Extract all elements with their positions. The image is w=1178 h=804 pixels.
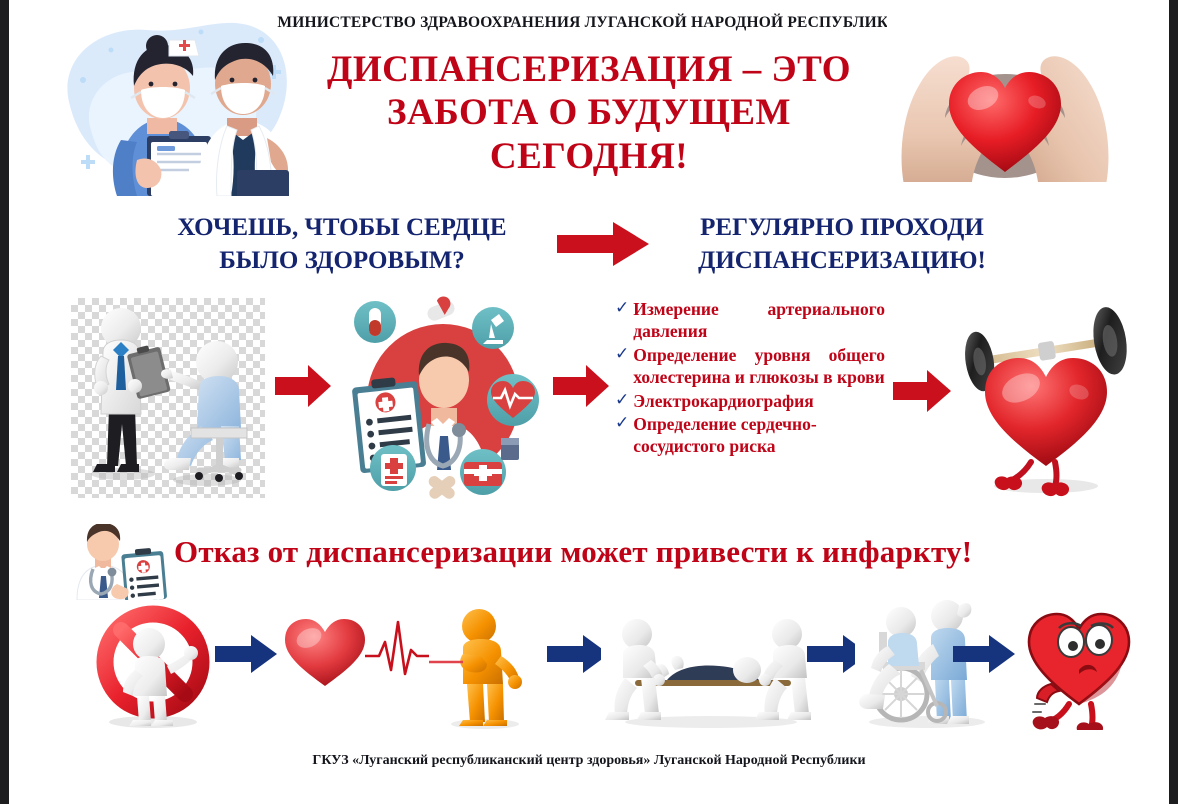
flow-step-doctor-patient (71, 298, 265, 498)
check-icon: ✓ (615, 413, 629, 435)
page-title: ДИСПАНСЕРИЗАЦИЯ – ЭТО ЗАБОТА О БУДУЩЕМ С… (294, 48, 884, 178)
examination-checklist: ✓ Измерение артериального давления ✓ Опр… (615, 298, 885, 459)
consequence-stretcher (601, 604, 821, 730)
checklist-item: ✓ Определение уровня общего холестерина … (615, 344, 885, 389)
header-left-illustration (51, 10, 299, 196)
red-right-arrow-icon-3 (893, 368, 951, 414)
slogan-answer: РЕГУЛЯРНО ПРОХОДИ ДИСПАНСЕРИЗАЦИЮ! (657, 212, 1027, 277)
patient-3d-figure (161, 341, 247, 486)
flow-step-medical-icons (331, 296, 547, 502)
checklist-item: ✓ Электрокардиография (615, 390, 885, 412)
icon-vaccine-vial (501, 438, 519, 460)
icon-microscope (472, 307, 514, 349)
icon-first-aid-kit (460, 449, 506, 495)
navy-right-arrow-icon-4 (953, 634, 1015, 674)
flow-step-strong-heart (951, 300, 1141, 498)
checklist-item: ✓ Определение сердечно-сосудистого риска (615, 413, 885, 458)
doctor-with-clipboard-icon (67, 524, 179, 600)
consequence-refusal (79, 600, 229, 730)
icon-heart-ecg (487, 374, 539, 426)
footer-organization: ГКУЗ «Луганский республиканский центр зд… (9, 753, 1169, 769)
navy-right-arrow-icon-1 (215, 634, 277, 674)
check-icon: ✓ (615, 344, 629, 366)
poster-page: МИНИСТЕРСТВО ЗДРАВООХРАНЕНИЯ ЛУГАНСКОЙ Н… (0, 0, 1178, 804)
checklist-item-label: Электрокардиография (633, 390, 885, 412)
warning-banner-text: Отказ от диспансеризации может привести … (174, 534, 1114, 570)
slogan-answer-line-2: ДИСПАНСЕРИЗАЦИЮ! (657, 245, 1027, 278)
checklist-item-label: Измерение артериального давления (633, 298, 885, 343)
slogan-question-line-1: ХОЧЕШЬ, ЧТОБЫ СЕРДЦЕ (137, 212, 547, 245)
title-line-2: ЗАБОТА О БУДУЩЕМ (294, 91, 884, 134)
header-right-photo (887, 14, 1123, 194)
slogan-question: ХОЧЕШЬ, ЧТОБЫ СЕРДЦЕ БЫЛО ЗДОРОВЫМ? (137, 212, 547, 277)
title-line-3: СЕГОДНЯ! (294, 135, 884, 178)
icon-clipboard-cross (370, 445, 416, 491)
slogan-question-line-2: БЫЛО ЗДОРОВЫМ? (137, 245, 547, 278)
red-right-arrow-icon-2 (553, 363, 609, 409)
slogan-answer-line-1: РЕГУЛЯРНО ПРОХОДИ (657, 212, 1027, 245)
consequence-heart-ecg (281, 612, 431, 702)
check-icon: ✓ (615, 390, 629, 412)
red-right-arrow-icon-1 (275, 363, 331, 409)
title-line-1: ДИСПАНСЕРИЗАЦИЯ – ЭТО (294, 48, 884, 91)
icon-test-tube (354, 301, 396, 343)
consequence-sad-heart (1019, 600, 1139, 730)
doctor-3d-figure (91, 308, 171, 480)
navy-right-arrow-icon-2 (547, 634, 609, 674)
checklist-item: ✓ Измерение артериального давления (615, 298, 885, 343)
consequence-heart-attack (429, 604, 549, 730)
check-icon: ✓ (615, 298, 629, 320)
checklist-item-label: Определение сердечно-сосудистого риска (633, 413, 885, 458)
checklist-item-label: Определение уровня общего холестерина и … (633, 344, 885, 389)
poster-canvas: МИНИСТЕРСТВО ЗДРАВООХРАНЕНИЯ ЛУГАНСКОЙ Н… (9, 0, 1169, 804)
red-right-arrow-icon (557, 222, 649, 266)
